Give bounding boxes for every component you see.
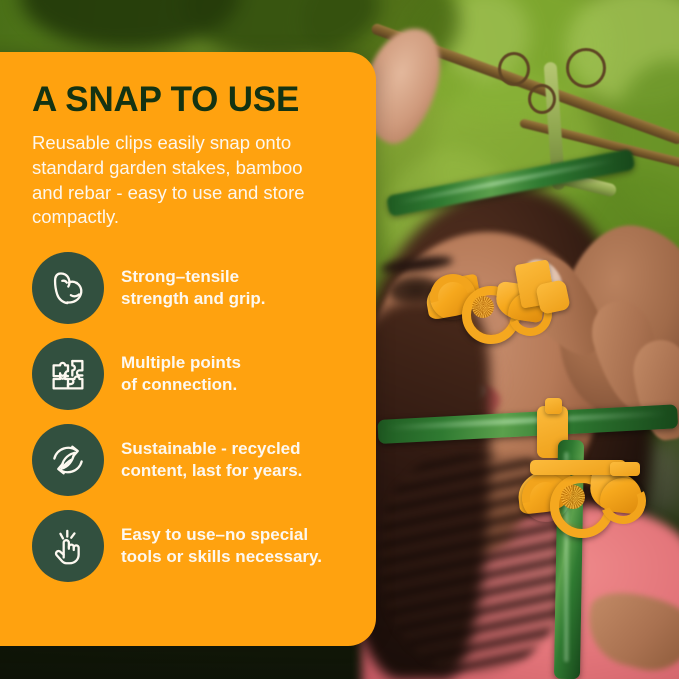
feature-label: Sustainable - recycled content, last for… [121, 438, 302, 482]
vine-tendril-b [566, 48, 606, 88]
clip-upper-teeth [472, 296, 494, 318]
feature-icon-badge [32, 510, 104, 582]
tapping-hand-icon [45, 523, 91, 569]
subcopy-paragraph: Reusable clips easily snap onto standard… [32, 131, 332, 229]
list-item: Easy to use–no special tools or skills n… [32, 510, 350, 582]
feature-icon-badge [32, 252, 104, 324]
puzzle-pieces-icon [45, 351, 91, 397]
clip-mid-collar-nub [545, 398, 562, 414]
infographic-canvas: A SNAP TO USE Reusable clips easily snap… [0, 0, 679, 679]
list-item: Multiple points of connection. [32, 338, 350, 410]
flexed-bicep-icon [45, 265, 91, 311]
feature-label: Multiple points of connection. [121, 352, 241, 396]
feature-list: Strong–tensile strength and grip. Multi [32, 252, 350, 582]
feature-label: Easy to use–no special tools or skills n… [121, 524, 322, 568]
list-item: Strong–tensile strength and grip. [32, 252, 350, 324]
feature-icon-badge [32, 338, 104, 410]
clip-bottom-right-tab [610, 462, 640, 476]
page-title: A SNAP TO USE [32, 82, 350, 118]
info-card: A SNAP TO USE Reusable clips easily snap… [0, 52, 376, 646]
info-card-content: A SNAP TO USE Reusable clips easily snap… [0, 52, 376, 646]
list-item: Sustainable - recycled content, last for… [32, 424, 350, 496]
vine-tendril-c [528, 84, 556, 114]
recycle-leaf-icon [45, 437, 91, 483]
clip-bottom-teeth [561, 485, 585, 509]
feature-label: Strong–tensile strength and grip. [121, 266, 266, 310]
vine-tendril-a [498, 52, 530, 86]
feature-icon-badge [32, 424, 104, 496]
